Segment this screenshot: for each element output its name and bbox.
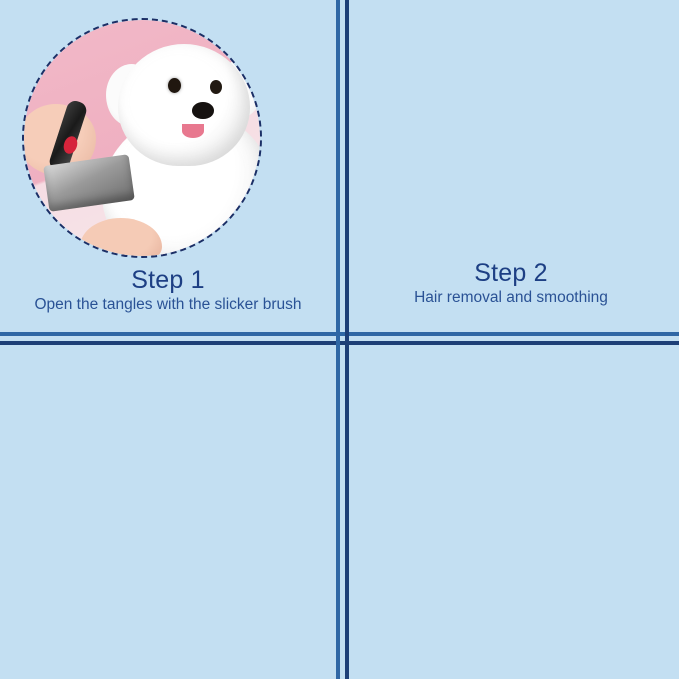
step-1-description: Open the tangles with the slicker brush <box>0 295 336 315</box>
dog-left-eye <box>168 78 181 93</box>
step-2-caption: Step 2 Hair removal and smoothing <box>343 258 679 308</box>
step-1-photo-circle <box>22 18 262 258</box>
step-1-panel: Step 1 Open the tangles with the slicker… <box>0 0 336 332</box>
dog-nose <box>192 102 214 119</box>
step-2-description: Hair removal and smoothing <box>343 288 679 308</box>
step-3-panel: Step 3 Use sparse spacing paired with sl… <box>0 345 336 677</box>
step-2-title: Step 2 <box>343 258 679 288</box>
step-1-caption: Step 1 Open the tangles with the slicker… <box>0 265 336 315</box>
step-1-photo <box>24 20 260 256</box>
step-4-panel: Step 4 Remove remaining hair from brushe… <box>343 345 679 677</box>
step-2-panel: Step 2 Hair removal and smoothing <box>343 0 679 332</box>
dog-tongue <box>182 124 204 138</box>
grooming-steps-infographic: Step 1 Open the tangles with the slicker… <box>0 0 679 679</box>
vertical-divider <box>336 0 349 679</box>
dog-head-shape <box>118 44 250 166</box>
dog-right-eye <box>210 80 222 94</box>
step-1-title: Step 1 <box>0 265 336 295</box>
